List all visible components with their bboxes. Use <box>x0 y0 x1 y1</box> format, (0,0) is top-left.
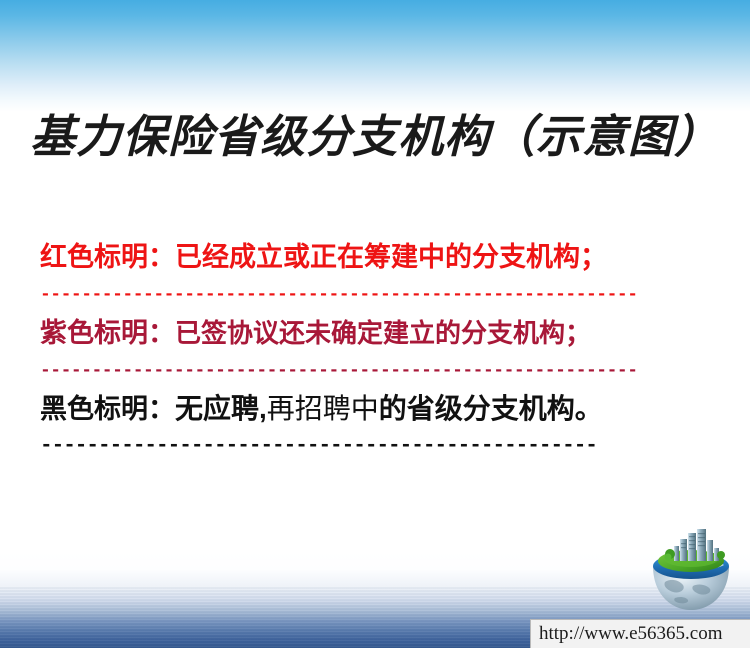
legend-row-red: 红色标明：已经成立或正在筹建中的分支机构； <box>40 236 710 278</box>
legend-description-black-part3: 的省级分支机构。 <box>379 393 603 424</box>
legend-row-purple: 紫色标明：已签协议还未确定建立的分支机构； <box>40 312 710 354</box>
legend-row-black: 黑色标明：无应聘,再招聘中的省级分支机构。 <box>40 388 710 430</box>
legend-description-black-part2: 再招聘中 <box>267 393 379 424</box>
page-title: 基力保险省级分支机构（示意图） <box>0 100 750 165</box>
legend-separator-purple: ----------------------------------------… <box>40 354 638 388</box>
legend-label-purple: 紫色标明： <box>40 318 175 348</box>
legend-label-black: 黑色标明： <box>40 394 175 424</box>
site-url-label: http://www.e56365.com <box>530 619 750 648</box>
legend-description-red: 已经成立或正在筹建中的分支机构； <box>175 242 607 272</box>
sky-gradient-background <box>0 0 750 112</box>
legend-block: 红色标明：已经成立或正在筹建中的分支机构； ------------------… <box>40 236 710 464</box>
slide-canvas: 基力保险省级分支机构（示意图） 红色标明：已经成立或正在筹建中的分支机构； --… <box>0 0 750 648</box>
legend-label-red: 红色标明： <box>40 242 175 272</box>
legend-description-purple: 已签协议还未确定建立的分支机构； <box>175 318 591 348</box>
legend-separator-black: ----------------------------------------… <box>40 430 638 464</box>
globe-city-icon <box>645 524 737 614</box>
legend-separator-red: ----------------------------------------… <box>40 278 640 312</box>
legend-description-black-part1: 无应聘, <box>175 393 267 424</box>
